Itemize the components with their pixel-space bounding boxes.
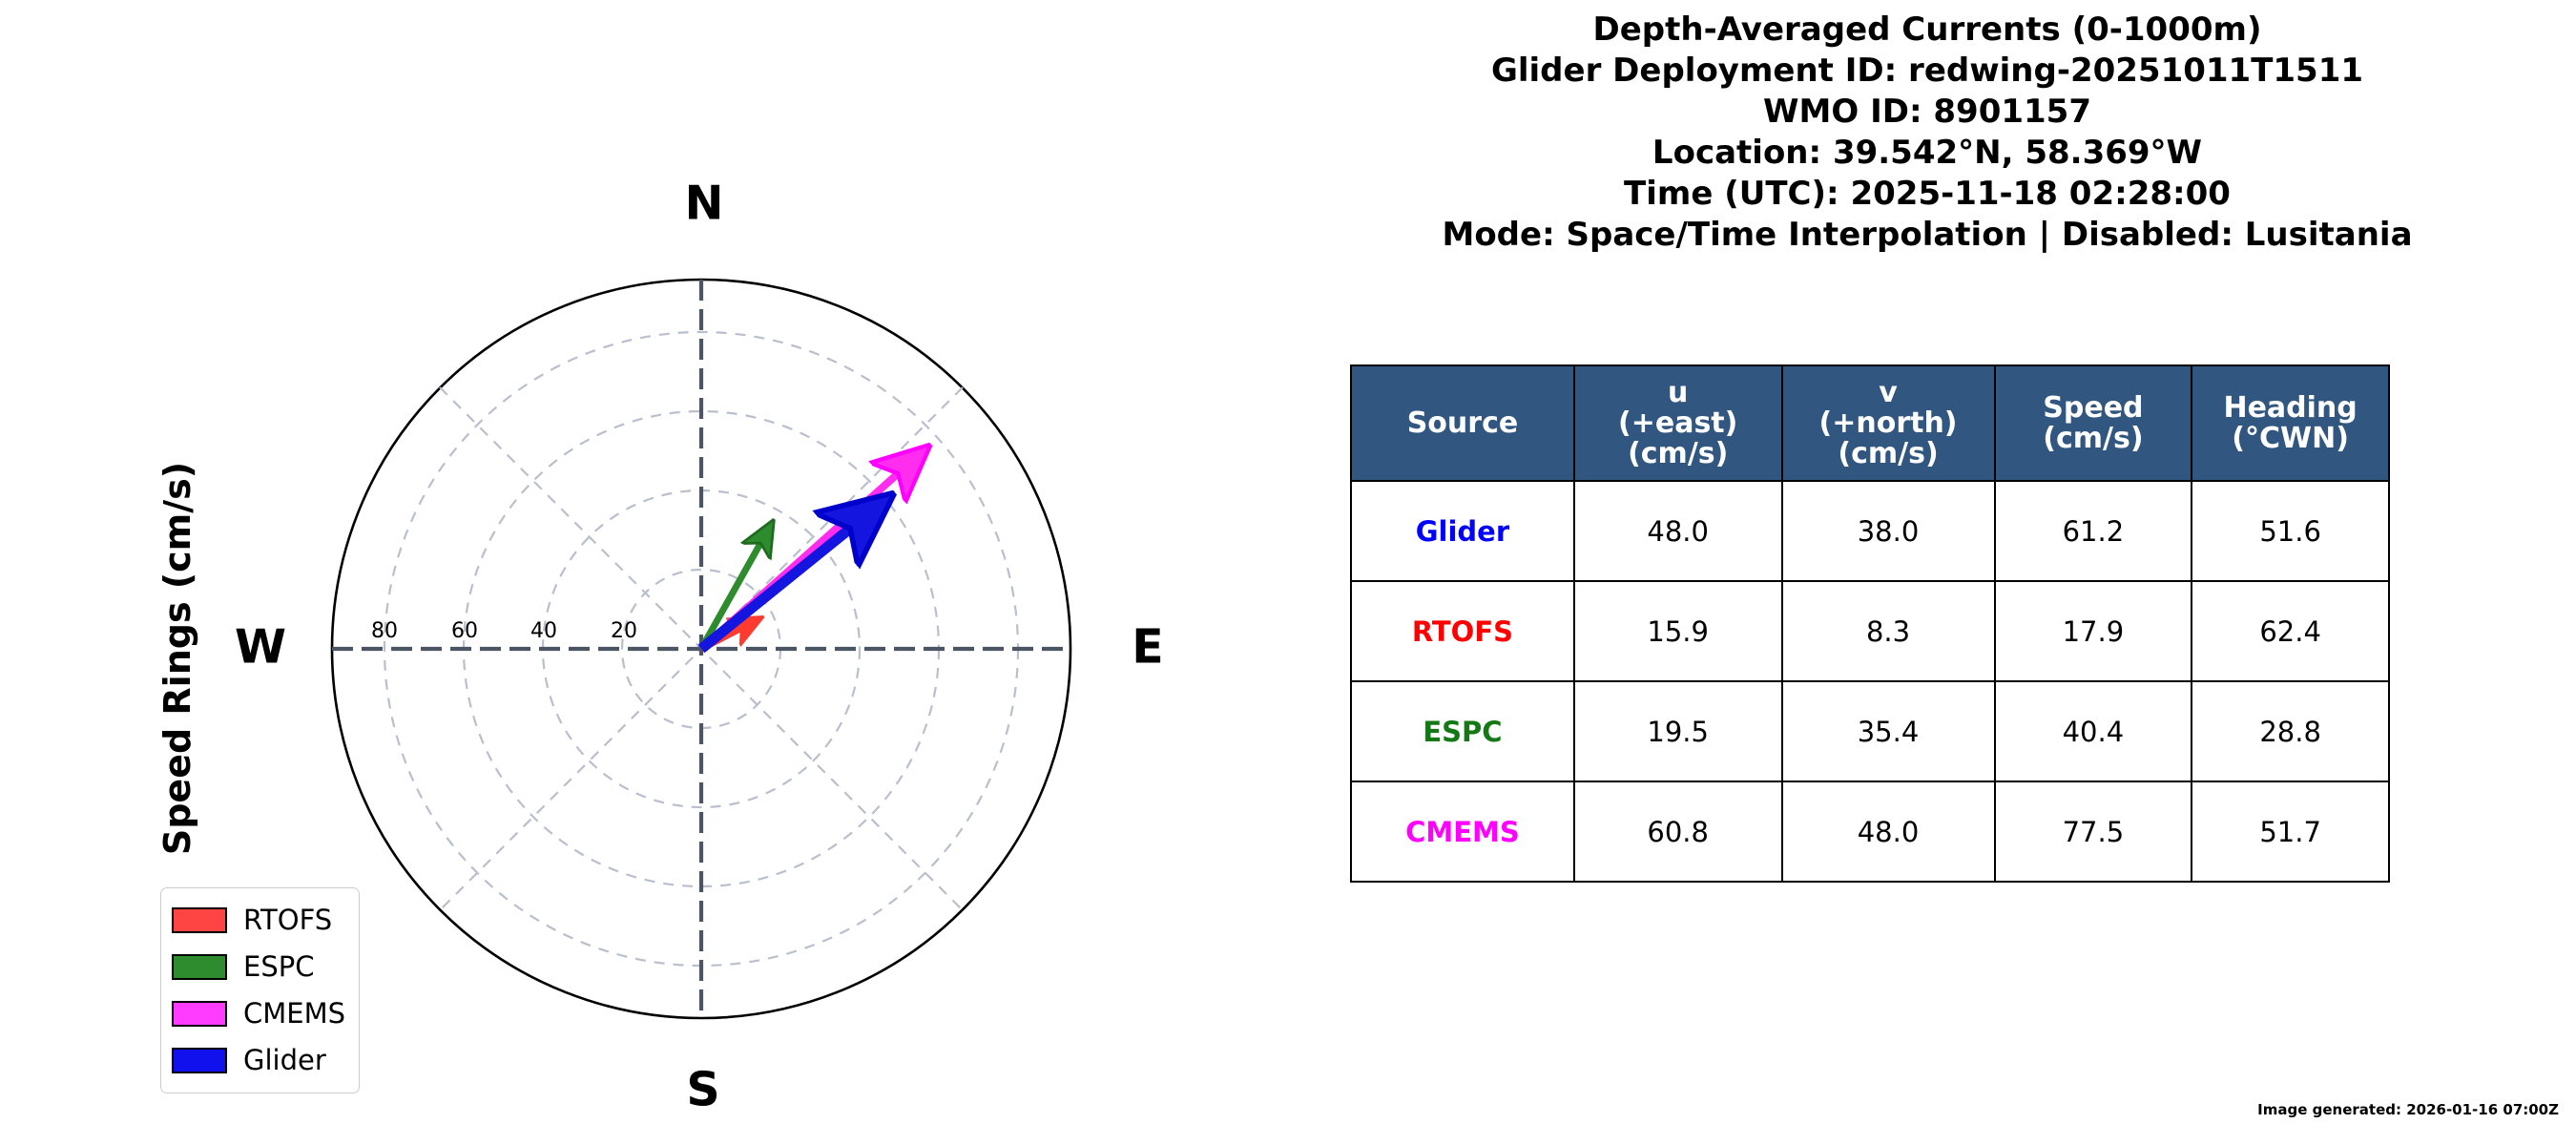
legend-swatch-cmems — [172, 1001, 227, 1027]
ring-tick-20: 20 — [611, 619, 637, 643]
vector-arrow-glider — [701, 505, 880, 649]
cell-v-rtofs: 8.3 — [1782, 581, 1995, 681]
generated-timestamp: Image generated: 2026-01-16 07:00Z — [2257, 1101, 2559, 1118]
location-line: Location: 39.542°N, 58.369°W — [1278, 136, 2576, 169]
cell-heading-cmems: 51.7 — [2192, 781, 2389, 882]
wmo-id-line: WMO ID: 8901157 — [1278, 95, 2576, 128]
legend-item-glider[interactable]: Glider — [172, 1037, 345, 1084]
legend-swatch-glider — [172, 1048, 227, 1073]
column-header-u: u(+east)(cm/s) — [1574, 365, 1782, 481]
table-row: CMEMS 60.8 48.0 77.5 51.7 — [1351, 781, 2389, 882]
cell-heading-glider: 51.6 — [2192, 481, 2389, 581]
column-header-speed: Speed(cm/s) — [1995, 365, 2192, 481]
legend-item-rtofs[interactable]: RTOFS — [172, 897, 345, 944]
radial-axis-title: Speed Rings (cm/s) — [156, 462, 198, 855]
column-header-v: v(+north)(cm/s) — [1782, 365, 1995, 481]
table-row: Glider 48.0 38.0 61.2 51.6 — [1351, 481, 2389, 581]
page-title: Depth-Averaged Currents (0-1000m) — [1278, 13, 2576, 46]
column-header-heading: Heading(°CWN) — [2192, 365, 2389, 481]
compass-label-south: S — [686, 1063, 719, 1117]
cell-v-cmems: 48.0 — [1782, 781, 1995, 882]
ring-tick-80: 80 — [371, 619, 398, 643]
compass-label-west: W — [235, 620, 286, 675]
cell-u-espc: 19.5 — [1574, 681, 1782, 781]
cell-source-rtofs: RTOFS — [1351, 581, 1574, 681]
table-row: RTOFS 15.9 8.3 17.9 62.4 — [1351, 581, 2389, 681]
table-header-row: Source u(+east)(cm/s) v(+north)(cm/s) Sp… — [1351, 365, 2389, 481]
currents-table: Source u(+east)(cm/s) v(+north)(cm/s) Sp… — [1350, 364, 2390, 883]
legend-swatch-espc — [172, 954, 227, 980]
deployment-id-line: Glider Deployment ID: redwing-20251011T1… — [1278, 54, 2576, 87]
cell-speed-rtofs: 17.9 — [1995, 581, 2192, 681]
cell-v-glider: 38.0 — [1782, 481, 1995, 581]
legend-label-rtofs: RTOFS — [243, 906, 332, 934]
cell-u-cmems: 60.8 — [1574, 781, 1782, 882]
cell-speed-glider: 61.2 — [1995, 481, 2192, 581]
ring-tick-40: 40 — [530, 619, 557, 643]
legend-item-cmems[interactable]: CMEMS — [172, 990, 345, 1037]
table-row: ESPC 19.5 35.4 40.4 28.8 — [1351, 681, 2389, 781]
cell-u-rtofs: 15.9 — [1574, 581, 1782, 681]
cell-u-glider: 48.0 — [1574, 481, 1782, 581]
mode-line: Mode: Space/Time Interpolation | Disable… — [1278, 219, 2576, 251]
legend-swatch-rtofs — [172, 907, 227, 933]
cell-source-glider: Glider — [1351, 481, 1574, 581]
compass-label-east: E — [1132, 620, 1163, 675]
polar-plot-panel: 80 60 40 20 N S E W Sp — [0, 0, 1278, 1145]
plot-legend: RTOFS ESPC CMEMS Glider — [160, 887, 360, 1093]
info-panel: Depth-Averaged Currents (0-1000m) Glider… — [1278, 0, 2576, 1145]
cell-speed-espc: 40.4 — [1995, 681, 2192, 781]
cell-source-espc: ESPC — [1351, 681, 1574, 781]
legend-item-espc[interactable]: ESPC — [172, 944, 345, 990]
legend-label-glider: Glider — [243, 1047, 326, 1074]
legend-label-cmems: CMEMS — [243, 1000, 345, 1028]
legend-label-espc: ESPC — [243, 953, 314, 981]
time-line: Time (UTC): 2025-11-18 02:28:00 — [1278, 177, 2576, 210]
compass-label-north: N — [684, 177, 723, 231]
title-block: Depth-Averaged Currents (0-1000m) Glider… — [1278, 13, 2576, 260]
cell-speed-cmems: 77.5 — [1995, 781, 2192, 882]
ring-tick-60: 60 — [451, 619, 478, 643]
cell-heading-espc: 28.8 — [2192, 681, 2389, 781]
cell-v-espc: 35.4 — [1782, 681, 1995, 781]
cell-heading-rtofs: 62.4 — [2192, 581, 2389, 681]
column-header-source: Source — [1351, 365, 1574, 481]
cell-source-cmems: CMEMS — [1351, 781, 1574, 882]
